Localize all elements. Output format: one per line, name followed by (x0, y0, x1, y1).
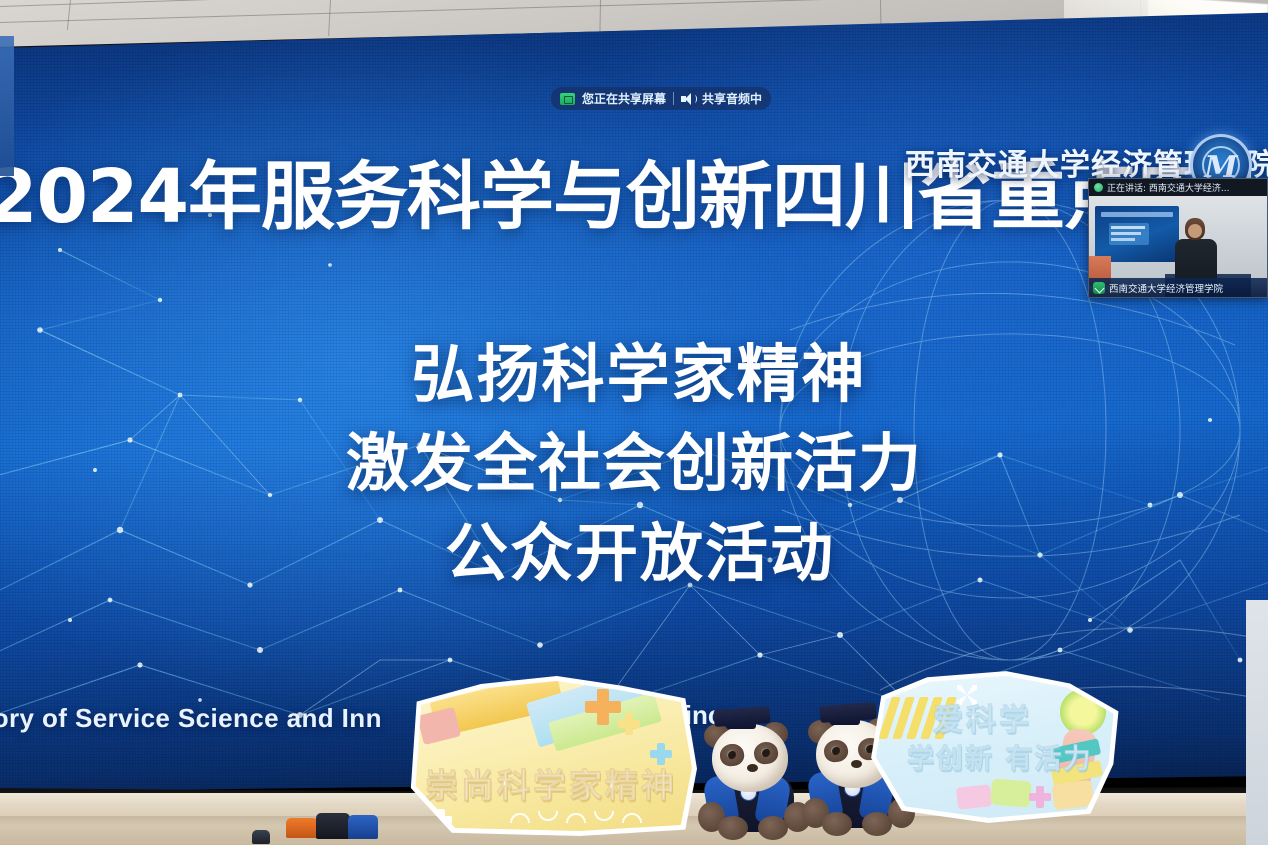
screen-share-label: 您正在共享屏幕 (582, 90, 666, 107)
desk-object-small (252, 830, 270, 844)
verified-check-icon (1093, 282, 1105, 294)
pip-speaker-face (1188, 224, 1202, 238)
pip-footer: 西南交通大学经济管理学院 (1089, 278, 1267, 297)
panda-plush-left (700, 718, 810, 840)
microphone-active-icon (1094, 183, 1103, 192)
graduation-cap-icon (713, 706, 770, 727)
slide-subtitle-line-2: 激发全社会创新活力 (0, 419, 1268, 508)
pip-video-window[interactable]: 正在讲话: 西南交通大学经济... 西南交通大学经济管理学院 (1088, 178, 1268, 298)
right-wall-panel (1246, 600, 1268, 845)
pip-participant-name: 西南交通大学经济管理学院 (1109, 281, 1223, 295)
cardboard-sign-right-line-2: 学创新 有活力 (907, 737, 1092, 776)
desk-object-blue (348, 815, 378, 839)
speaker-icon (681, 93, 695, 105)
cardboard-sign-left-text: 崇尚科学家精神 (410, 759, 692, 807)
pip-background-screen (1095, 206, 1179, 262)
desk-object-orange (286, 818, 318, 838)
screen-share-banner[interactable]: 您正在共享屏幕 共享音频中 (551, 87, 771, 110)
wave-decoration (510, 811, 660, 823)
cardboard-sign-right-line-1: 爱科学 (933, 695, 1032, 739)
desk-object-dark (316, 813, 350, 839)
cardboard-sign-left: 崇尚科学家精神 (405, 676, 697, 836)
audio-share-label: 共享音频中 (702, 90, 762, 107)
screen-share-icon (560, 93, 575, 105)
shape-decorations (957, 778, 1097, 814)
slide-subtitle-block: 弘扬科学家精神 激发全社会创新活力 公众开放活动 (0, 330, 1268, 598)
pip-speaking-label: 正在讲话: 西南交通大学经济... (1107, 181, 1229, 194)
plus-shape-icon (585, 689, 621, 725)
led-display-wall: 2024年服务科学与创新四川省重点实 弘扬科学家精神 激发全社会创新活力 公众开… (0, 0, 1268, 800)
cardboard-sign-right: 爱科学 学创新 有活力 (866, 668, 1121, 823)
graduation-cap-icon (819, 702, 876, 723)
pip-titlebar: 正在讲话: 西南交通大学经济... (1089, 179, 1267, 196)
slide-subtitle-line-3: 公众开放活动 (0, 509, 1268, 598)
plus-shape-icon (618, 713, 640, 735)
left-wall-panel (0, 36, 14, 176)
banner-divider (673, 92, 674, 105)
slide-subtitle-line-1: 弘扬科学家精神 (0, 330, 1268, 419)
screenshot-stage: 2024年服务科学与创新四川省重点实 弘扬科学家精神 激发全社会创新活力 公众开… (0, 0, 1268, 845)
